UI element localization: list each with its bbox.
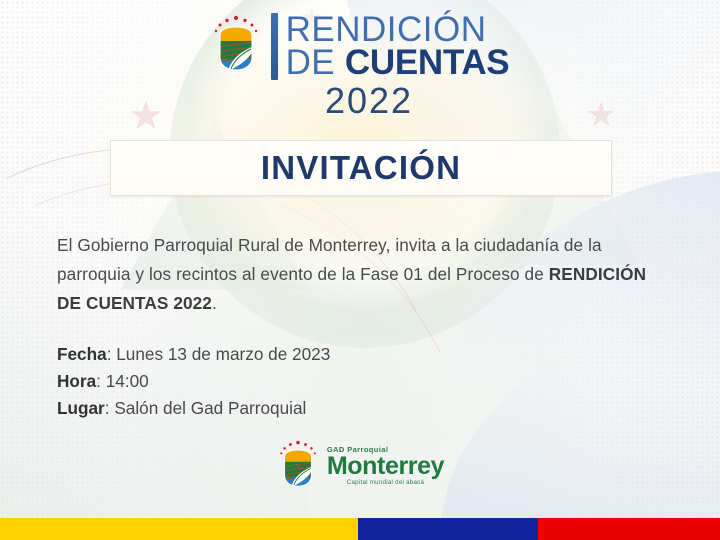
flag-band-blue [358,518,538,540]
detail-row-fecha: Fecha: Lunes 13 de marzo de 2023 [57,341,557,368]
detail-label-lugar: Lugar [57,398,105,418]
footer-org-name: Monterrey [327,454,444,479]
detail-row-hora: Hora: 14:00 [57,368,557,395]
detail-value-lugar: Salón del Gad Parroquial [114,398,306,418]
footer-logo-text: GAD Parroquial Monterrey Capital mundial… [327,446,444,487]
detail-separator: : [105,398,115,418]
year-row: 2022 [0,84,720,120]
body-paragraph: El Gobierno Parroquial Rural de Monterre… [57,231,665,318]
detail-label-fecha: Fecha [57,344,107,364]
footer-org-tagline: Capital mundial del abacá [327,480,444,486]
wordmark-line-cuentas: CUENTAS [345,43,509,82]
flag-band-red [538,518,720,540]
brand-row: RENDICIÓN DE CUENTAS [0,8,720,84]
detail-value-fecha: Lunes 13 de marzo de 2023 [116,344,330,364]
detail-label-hora: Hora [57,371,96,391]
event-details: Fecha: Lunes 13 de marzo de 2023 Hora: 1… [57,341,557,422]
wordmark: RENDICIÓN DE CUENTAS [271,13,510,80]
invitation-banner: INVITACIÓN [110,140,612,196]
body-paragraph-part1: El Gobierno Parroquial Rural de Monterre… [57,235,602,284]
wordmark-year: 2022 [325,82,413,120]
detail-separator: : [107,344,117,364]
wordmark-line-de: DE [286,43,345,82]
header: RENDICIÓN DE CUENTAS 2022 [0,8,720,132]
flag-bar [0,518,720,540]
detail-value-hora: 14:00 [106,371,149,391]
footer-logo: GAD Parroquial Monterrey Capital mundial… [0,440,720,492]
wordmark-line-rendicion: RENDICIÓN [286,13,510,46]
invitation-poster: ★ ★ ★ ★ ★ [0,0,720,540]
gad-monterrey-footer-logo-icon [276,440,320,492]
detail-separator: : [96,371,106,391]
invitation-title: INVITACIÓN [261,149,461,187]
wordmark-divider-bar [271,13,278,80]
flag-band-yellow [0,518,358,540]
body-paragraph-part2: . [212,293,217,313]
detail-row-lugar: Lugar: Salón del Gad Parroquial [57,395,557,422]
gad-monterrey-logo-icon [211,15,261,77]
